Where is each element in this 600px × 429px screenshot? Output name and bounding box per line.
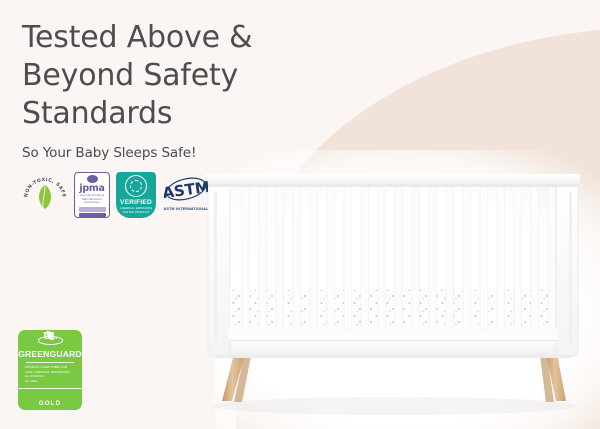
verified-wordmark: VERIFIED (120, 199, 152, 206)
astm-caption: ASTM INTERNATIONAL (164, 207, 209, 211)
certification-badge-row: NON-TOXIC, SAFE & HEALTHY jpma Juvenile … (22, 172, 210, 223)
greenguard-tier-row: GOLD (18, 388, 82, 410)
verified-inner-ring-icon (130, 180, 142, 192)
product-image-crib (198, 170, 588, 422)
headline-block: Tested Above & Beyond Safety Standards S… (22, 19, 322, 161)
promo-banner: Tested Above & Beyond Safety Standards S… (0, 0, 600, 429)
verified-subtext: CHEMICAL EMISSIONS TESTED PRODUCT (120, 207, 152, 214)
ul-mark-icon: UL (38, 336, 63, 345)
badge-astm-international: ASTM ASTM INTERNATIONAL (162, 172, 210, 211)
jpma-band-lower (79, 213, 106, 217)
jpma-subtext: Juvenile Products Manufacturers Associat… (75, 194, 109, 205)
greenguard-tier: GOLD (39, 400, 61, 407)
svg-text:ASTM: ASTM (164, 178, 208, 202)
badge-verified-shield: VERIFIED CHEMICAL EMISSIONS TESTED PRODU… (116, 172, 156, 218)
greenguard-fine-print: PRODUCT CERTIFIED FOR LOW CHEMICAL EMISS… (25, 365, 75, 384)
subtitle: So Your Baby Sleeps Safe! (22, 145, 322, 161)
badge-non-toxic-leaf-seal: NON-TOXIC, SAFE & HEALTHY (22, 172, 68, 223)
jpma-band (79, 207, 106, 212)
badge-greenguard-gold: UL GREENGUARD PRODUCT CERTIFIED FOR LOW … (18, 330, 82, 410)
jpma-crest-icon (87, 175, 98, 183)
verified-ring-icon (125, 175, 147, 197)
badge-jpma-certified: jpma Juvenile Products Manufacturers Ass… (74, 172, 110, 218)
greenguard-title: GREENGUARD (18, 349, 82, 359)
page-title: Tested Above & Beyond Safety Standards (22, 19, 322, 133)
